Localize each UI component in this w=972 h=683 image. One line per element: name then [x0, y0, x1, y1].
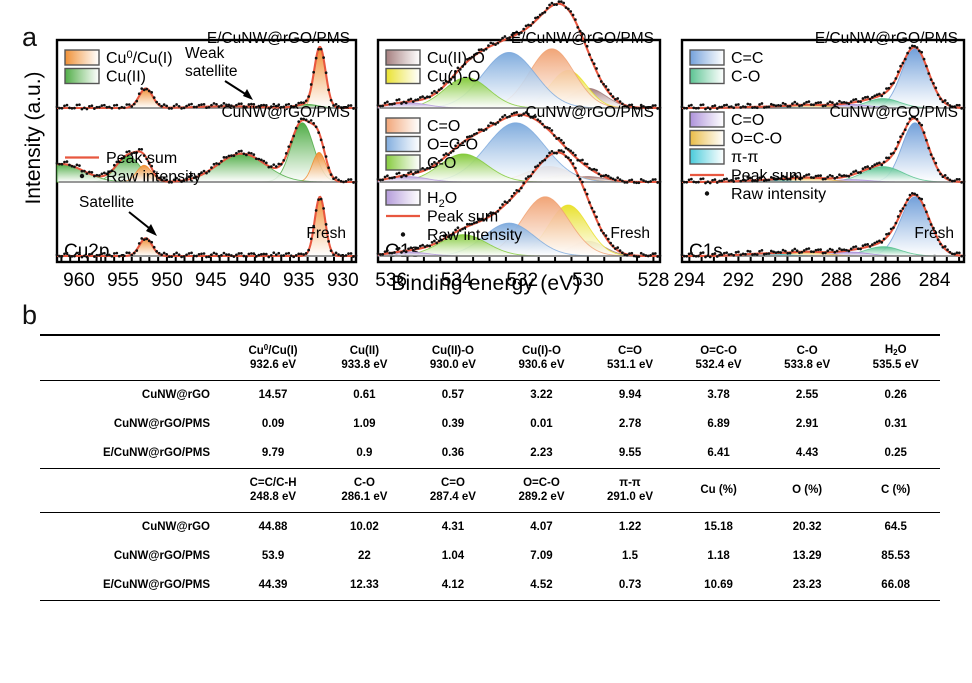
column-energy: 286.1 eV — [341, 491, 387, 503]
xps-figure-panel-a: 960955950945940935930Cu2pE/CuNW@rGO/PMSC… — [0, 0, 972, 300]
table-cell: 0.25 — [851, 439, 940, 469]
column-header: C=O287.4 eV — [409, 468, 498, 512]
table-row: E/CuNW@rGO/PMS9.790.90.362.239.556.414.4… — [40, 439, 940, 469]
table-cell: 4.52 — [497, 571, 586, 601]
column-header: Cu(II)-O930.0 eV — [409, 335, 498, 380]
table-cell: 9.79 — [226, 439, 320, 469]
legend-label: Peak sum — [427, 209, 498, 226]
column-species: O=C-O — [523, 477, 560, 489]
annotation-weak-satellite-2: satellite — [185, 63, 238, 80]
table-cell: 22 — [320, 542, 409, 571]
table-cell: 13.29 — [763, 542, 852, 571]
legend-label: Peak sum — [106, 150, 177, 167]
column-energy: 287.4 eV — [430, 491, 476, 503]
column-species: C (%) — [881, 484, 910, 496]
legend-label: O=C-O — [731, 131, 782, 148]
column-energy: 533.8 eV — [784, 359, 830, 371]
trace-label: Fresh — [610, 225, 650, 242]
table-corner-cell — [40, 468, 226, 512]
column-energy: 535.5 eV — [873, 359, 919, 371]
legend-label: π-π — [731, 149, 758, 166]
column-species: π-π — [619, 477, 640, 489]
trace-label: E/CuNW@rGO/PMS — [815, 30, 958, 47]
region-label: C1s — [689, 241, 723, 262]
table-cell: 44.88 — [226, 512, 320, 542]
trace-label: E/CuNW@rGO/PMS — [207, 30, 350, 47]
column-species: Cu(II) — [350, 345, 379, 357]
table-cell: 3.78 — [674, 380, 763, 410]
table-cell: 85.53 — [851, 542, 940, 571]
column-header: O (%) — [763, 468, 852, 512]
legend-label: Cu(I)-O — [427, 69, 480, 86]
table-corner-cell — [40, 335, 226, 380]
table-cell: 2.23 — [497, 439, 586, 469]
table-cell: 1.04 — [409, 542, 498, 571]
column-header: Cu0/Cu(I)932.6 eV — [226, 335, 320, 380]
legend-entry: Cu(II)-O — [386, 50, 485, 67]
column-species: C-O — [797, 345, 818, 357]
column-species: Cu(I)-O — [522, 345, 561, 357]
legend-entry: O=C-O — [690, 131, 782, 148]
legend-label: Raw intensity — [731, 186, 826, 203]
trace-label: Fresh — [914, 225, 954, 242]
legend-label: Cu0/Cu(I) — [106, 49, 173, 67]
row-label: E/CuNW@rGO/PMS — [40, 439, 226, 469]
trace-label: E/CuNW@rGO/PMS — [511, 30, 654, 47]
legend-label: C=O — [731, 112, 764, 129]
trace-label: CuNW@rGO/PMS — [221, 104, 350, 121]
table-cell: 23.23 — [763, 571, 852, 601]
column-species: C=O — [618, 345, 642, 357]
column-species: Cu0/Cu(I) — [248, 345, 297, 357]
table-cell: 15.18 — [674, 512, 763, 542]
legend-entry: π-π — [690, 149, 758, 166]
table-cell: 1.5 — [586, 542, 675, 571]
row-label: CuNW@rGO — [40, 512, 226, 542]
table-cell: 0.9 — [320, 439, 409, 469]
legend-label: Raw intensity — [106, 169, 201, 186]
column-species: C-O — [354, 477, 375, 489]
column-header: Cu(I)-O930.6 eV — [497, 335, 586, 380]
table-cell: 0.31 — [851, 410, 940, 439]
row-label: E/CuNW@rGO/PMS — [40, 571, 226, 601]
legend-label: C-O — [731, 69, 760, 86]
y-axis-title: Intensity (a.u.) — [22, 18, 46, 258]
xps-spectra-svg: 960955950945940935930Cu2pE/CuNW@rGO/PMSC… — [0, 0, 972, 300]
table-body: Cu0/Cu(I)932.6 eVCu(II)933.8 eVCu(II)-O9… — [40, 335, 940, 600]
table-cell: 2.78 — [586, 410, 675, 439]
table-row: CuNW@rGO14.570.610.573.229.943.782.550.2… — [40, 380, 940, 410]
table-cell: 3.22 — [497, 380, 586, 410]
column-header: Cu (%) — [674, 468, 763, 512]
trace-label: Fresh — [306, 225, 346, 242]
legend-label: Cu(II) — [106, 69, 146, 86]
table-cell: 4.07 — [497, 512, 586, 542]
annotation-weak-satellite: Weak — [185, 45, 225, 62]
column-energy: 930.6 eV — [518, 359, 564, 371]
row-label: CuNW@rGO/PMS — [40, 542, 226, 571]
table-cell: 4.12 — [409, 571, 498, 601]
legend-entry: Cu(I)-O — [386, 69, 480, 86]
table-cell: 53.9 — [226, 542, 320, 571]
table-cell: 4.31 — [409, 512, 498, 542]
table-cell: 7.09 — [497, 542, 586, 571]
table-cell: 0.09 — [226, 410, 320, 439]
legend-label: Peak sum — [731, 168, 802, 185]
legend-entry: Cu(II) — [65, 69, 146, 86]
table-cell: 4.43 — [763, 439, 852, 469]
column-header: π-π291.0 eV — [586, 468, 675, 512]
legend-entry: O=C-O — [386, 137, 478, 154]
column-header: C-O533.8 eV — [763, 335, 852, 380]
column-energy: 932.6 eV — [250, 359, 296, 371]
annotation-satellite: Satellite — [79, 194, 134, 211]
column-header: H2O535.5 eV — [851, 335, 940, 380]
column-energy: 930.0 eV — [430, 359, 476, 371]
table-cell: 44.39 — [226, 571, 320, 601]
table-header-row: C=C/C-H248.8 eVC-O286.1 eVC=O287.4 eVO=C… — [40, 468, 940, 512]
table-cell: 2.91 — [763, 410, 852, 439]
table-cell: 6.41 — [674, 439, 763, 469]
table-cell: 0.26 — [851, 380, 940, 410]
column-species: C=C/C-H — [250, 477, 297, 489]
table-cell: 1.18 — [674, 542, 763, 571]
table-cell: 10.02 — [320, 512, 409, 542]
table-cell: 0.57 — [409, 380, 498, 410]
xps-quantification-table: Cu0/Cu(I)932.6 eVCu(II)933.8 eVCu(II)-O9… — [40, 334, 940, 601]
column-header: O=C-O532.4 eV — [674, 335, 763, 380]
table-row: E/CuNW@rGO/PMS44.3912.334.124.520.7310.6… — [40, 571, 940, 601]
table-row: CuNW@rGO44.8810.024.314.071.2215.1820.32… — [40, 512, 940, 542]
column-header: Cu(II)933.8 eV — [320, 335, 409, 380]
legend-label: C=C — [731, 50, 763, 67]
row-label: CuNW@rGO/PMS — [40, 410, 226, 439]
table-cell: 0.61 — [320, 380, 409, 410]
column-header: O=C-O289.2 eV — [497, 468, 586, 512]
legend-label: Cu(II)-O — [427, 50, 485, 67]
legend-label: C-O — [427, 155, 456, 172]
table-cell: 9.94 — [586, 380, 675, 410]
column-energy: 531.1 eV — [607, 359, 653, 371]
legend-label: C=O — [427, 118, 460, 135]
table-cell: 0.36 — [409, 439, 498, 469]
trace-label: CuNW@rGO/PMS — [525, 104, 654, 121]
column-energy: 289.2 eV — [518, 491, 564, 503]
table-cell: 20.32 — [763, 512, 852, 542]
table-cell: 64.5 — [851, 512, 940, 542]
legend-label: O=C-O — [427, 137, 478, 154]
column-energy: 933.8 eV — [341, 359, 387, 371]
panel-label-b: b — [22, 300, 37, 331]
table-cell: 0.01 — [497, 410, 586, 439]
table-cell: 1.09 — [320, 410, 409, 439]
column-species: H2O — [885, 344, 907, 356]
table-row: CuNW@rGO/PMS0.091.090.390.012.786.892.91… — [40, 410, 940, 439]
table-cell: 14.57 — [226, 380, 320, 410]
table-row: CuNW@rGO/PMS53.9221.047.091.51.1813.2985… — [40, 542, 940, 571]
column-header: C=O531.1 eV — [586, 335, 675, 380]
column-species: O (%) — [792, 484, 822, 496]
column-energy: 532.4 eV — [696, 359, 742, 371]
table-cell: 2.55 — [763, 380, 852, 410]
legend-label: Raw intensity — [427, 227, 522, 244]
legend-entry: Cu0/Cu(I) — [65, 49, 173, 67]
trace-label: CuNW@rGO/PMS — [829, 104, 958, 121]
column-header: C (%) — [851, 468, 940, 512]
table-cell: 0.39 — [409, 410, 498, 439]
table-cell: 6.89 — [674, 410, 763, 439]
column-header: C-O286.1 eV — [320, 468, 409, 512]
table-cell: 1.22 — [586, 512, 675, 542]
table-cell: 66.08 — [851, 571, 940, 601]
x-axis-title: Binding energy (eV) — [0, 272, 972, 296]
column-header: C=C/C-H248.8 eV — [226, 468, 320, 512]
column-species: Cu(II)-O — [432, 345, 474, 357]
table-cell: 0.73 — [586, 571, 675, 601]
region-label: Cu2p — [64, 241, 109, 262]
table-header-row: Cu0/Cu(I)932.6 eVCu(II)933.8 eVCu(II)-O9… — [40, 335, 940, 380]
column-species: C=O — [441, 477, 465, 489]
column-species: O=C-O — [700, 345, 737, 357]
table-cell: 12.33 — [320, 571, 409, 601]
data-table: Cu0/Cu(I)932.6 eVCu(II)933.8 eVCu(II)-O9… — [40, 334, 940, 601]
table-cell: 9.55 — [586, 439, 675, 469]
column-species: Cu (%) — [700, 484, 736, 496]
column-energy: 291.0 eV — [607, 491, 653, 503]
row-label: CuNW@rGO — [40, 380, 226, 410]
table-cell: 10.69 — [674, 571, 763, 601]
column-energy: 248.8 eV — [250, 491, 296, 503]
